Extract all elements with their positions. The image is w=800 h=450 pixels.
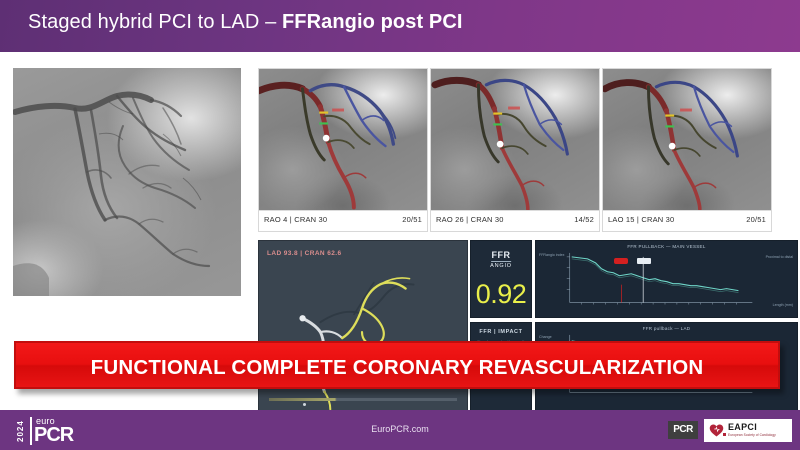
angiogram-tile-1-image (259, 69, 427, 213)
highlight-banner-text: FUNCTIONAL COMPLETE CORONARY REVASCULARI… (16, 356, 778, 380)
angiogram-tile-3-vessel-tree (603, 69, 771, 211)
page-title-plain: Staged hybrid PCI to LAD – (28, 11, 282, 33)
heart-icon (709, 423, 724, 438)
angiogram-tile-2-image (431, 69, 599, 213)
eapci-logo-subtitle: European Society of Cardiology (728, 433, 776, 437)
angiogram-main-image (13, 68, 241, 296)
tile-1-projection: RAO 4 | CRAN 30 (264, 215, 327, 224)
angiogram-tile-1[interactable]: RAO 4 | CRAN 30 20/51 (258, 68, 428, 232)
ffr-pullback-chart-top[interactable]: FFR PULLBACK — MAIN VESSEL FFRangio inde… (535, 240, 798, 318)
ffr-badge-line1: FFR (490, 250, 512, 260)
presentation-slide: Staged hybrid PCI to LAD – FFRangio post… (0, 0, 800, 450)
pcr-badge-text: PCR (668, 424, 698, 435)
ffr-value-card: FFR ANGIO 0.92 (470, 240, 532, 318)
tile-3-projection: LAO 15 | CRAN 30 (608, 215, 674, 224)
chart-top-plot (536, 241, 797, 318)
page-title-bold: FFRangio post PCI (282, 11, 463, 33)
angiogram-tile-1-vessel-tree (259, 69, 427, 211)
pcr-badge-logo: PCR (668, 421, 698, 439)
eapci-logo: EAPCI European Society of Cardiology (704, 419, 792, 442)
tile-3-frame: 20/51 (746, 215, 766, 224)
slide-header: Staged hybrid PCI to LAD – FFRangio post… (0, 0, 800, 52)
ffr-badge-line2: ANGIO (490, 263, 512, 270)
ffr-angio-badge: FFR ANGIO (490, 250, 512, 270)
angiogram-tile-3[interactable]: LAO 15 | CRAN 30 20/51 (602, 68, 772, 232)
angiogram-tile-3-image (603, 69, 771, 213)
page-title: Staged hybrid PCI to LAD – FFRangio post… (28, 11, 463, 34)
tile-1-frame: 20/51 (402, 215, 422, 224)
highlight-banner: FUNCTIONAL COMPLETE CORONARY REVASCULARI… (14, 341, 780, 389)
ffrangio-tree-scrubber-handle[interactable] (303, 403, 306, 406)
chart-top-cursor-label[interactable] (637, 258, 651, 264)
angiogram-main-vessels (13, 68, 241, 296)
angiogram-tile-2[interactable]: RAO 26 | CRAN 30 14/52 (430, 68, 600, 232)
ffr-badge-divider (491, 261, 511, 262)
tile-2-projection: RAO 26 | CRAN 30 (436, 215, 504, 224)
ffrangio-tree-scrubber[interactable] (269, 398, 457, 401)
eapci-logo-mark (723, 433, 726, 436)
ffr-value: 0.92 (471, 279, 531, 310)
angiogram-tile-1-caption: RAO 4 | CRAN 30 20/51 (259, 210, 427, 231)
chart-top-red-marker[interactable] (614, 258, 628, 264)
slide-footer: 2024 euro PCR EuroPCR.com PCR EAPCI Euro… (0, 410, 800, 450)
angiogram-tile-2-vessel-tree (431, 69, 599, 211)
eapci-logo-name: EAPCI (728, 422, 757, 432)
ffr-impact-title: FFR | IMPACT (471, 329, 531, 335)
tile-2-frame: 14/52 (574, 215, 594, 224)
angiogram-tile-3-caption: LAO 15 | CRAN 30 20/51 (603, 210, 771, 231)
angiogram-tile-2-caption: RAO 26 | CRAN 30 14/52 (431, 210, 599, 231)
